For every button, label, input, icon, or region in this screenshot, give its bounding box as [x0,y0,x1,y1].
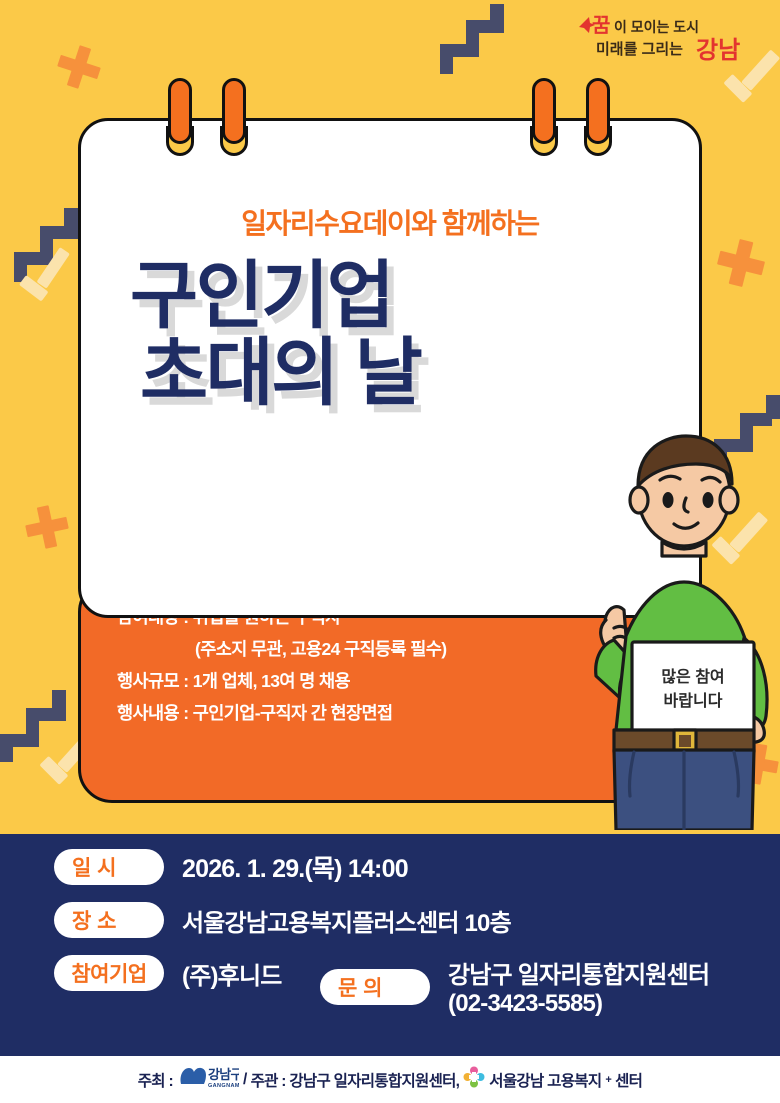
footer-credits: 주최 : 강남구 GANGNAM-GU / 주관 : 강남구 일자리통합지원센터… [138,1064,643,1095]
poster-canvas: 꿈 이 모이는 도시 미래를 그리는 강남 참여대상 : 취업을 원하는 구직자… [0,0,780,1103]
info-line-content: 행사내용 : 구인기업-구직자 간 현장면접 [117,697,587,729]
held-sign [632,642,754,732]
poster-title: 구인기업 초대의 날 [130,258,420,412]
partner-name: 서울강남 고용복지 [489,1069,601,1091]
sign-text-line-1: 많은 참여 [661,667,724,686]
detail-row-place: 장 소 서울강남고용복지플러스센터 10층 [54,902,511,938]
ear-left [630,487,648,513]
svg-text:강남구: 강남구 [208,1067,239,1082]
plus-icon [713,235,769,291]
employment-welfare-logo-icon [463,1066,485,1093]
detail-row-contact: 문 의 강남구 일자리통합지원센터 (02-3423-5585) [320,955,709,1018]
value-date: 2026. 1. 29.(목) 14:00 [182,849,408,885]
sign-text-line-2: 바랍니다 [664,692,723,710]
host-label: 주최 : [138,1069,173,1091]
staircase-decor [438,4,524,78]
gangnam-gu-logo: 강남구 GANGNAM-GU [177,1064,239,1095]
footer-bar: 주최 : 강남구 GANGNAM-GU / 주관 : 강남구 일자리통합지원센터… [0,1054,780,1103]
character-illustration: 많은 참여 바랍니다 [556,430,780,830]
label-company: 참여기업 [54,955,164,991]
svg-text:GANGNAM-GU: GANGNAM-GU [208,1083,239,1089]
label-place: 장 소 [54,902,164,938]
value-contact-phone: (02-3423-5585) [448,990,709,1018]
value-company: (주)후니드 [182,956,282,991]
eye-right [703,492,714,508]
label-contact: 문 의 [320,969,430,1005]
organizer-label: 주관 : 강남구 일자리통합지원센터, [251,1069,460,1091]
svg-text:미래를 그리는: 미래를 그리는 [596,41,683,58]
info-box-text: 참여대상 : 취업을 원하는 구직자 (주소지 무관, 고용24 구직등록 필수… [117,601,587,729]
binder-ring-icon [530,78,558,156]
info-line-scale: 행사규모 : 1개 업체, 13여 명 채용 [117,665,587,697]
partner-plus: + [605,1074,611,1086]
svg-text:꿈: 꿈 [592,15,610,37]
details-panel: 일 시 2026. 1. 29.(목) 14:00 장 소 서울강남고용복지플러… [0,834,780,1054]
eye-left [663,492,674,508]
plus-icon [22,502,72,552]
poster-subtitle: 일자리수요데이와 함께하는 [78,202,702,242]
detail-row-date: 일 시 2026. 1. 29.(목) 14:00 [54,849,408,885]
label-date: 일 시 [54,849,164,885]
value-place: 서울강남고용복지플러스센터 10층 [182,903,511,938]
info-line-note: (주소지 무관, 고용24 구직등록 필수) [117,633,587,665]
svg-text:이 모이는 도시: 이 모이는 도시 [614,19,699,35]
plus-icon [53,41,106,94]
partner-suffix: 센터 [615,1069,642,1091]
binder-ring-icon [584,78,612,156]
svg-text:강남: 강남 [696,37,740,64]
check-icon [19,246,81,301]
title-line-2: 초대의 날 [130,335,420,412]
title-line-1: 구인기업 [130,258,420,335]
binder-ring-icon [220,78,248,156]
gangnam-slogan-logo: 꿈 이 모이는 도시 미래를 그리는 강남 [578,10,758,66]
ear-right [720,487,738,513]
footer-separator: / [243,1071,247,1089]
binder-ring-icon [166,78,194,156]
detail-row-company: 참여기업 (주)후니드 [54,955,282,991]
value-contact-center: 강남구 일자리통합지원센터 [448,955,709,990]
